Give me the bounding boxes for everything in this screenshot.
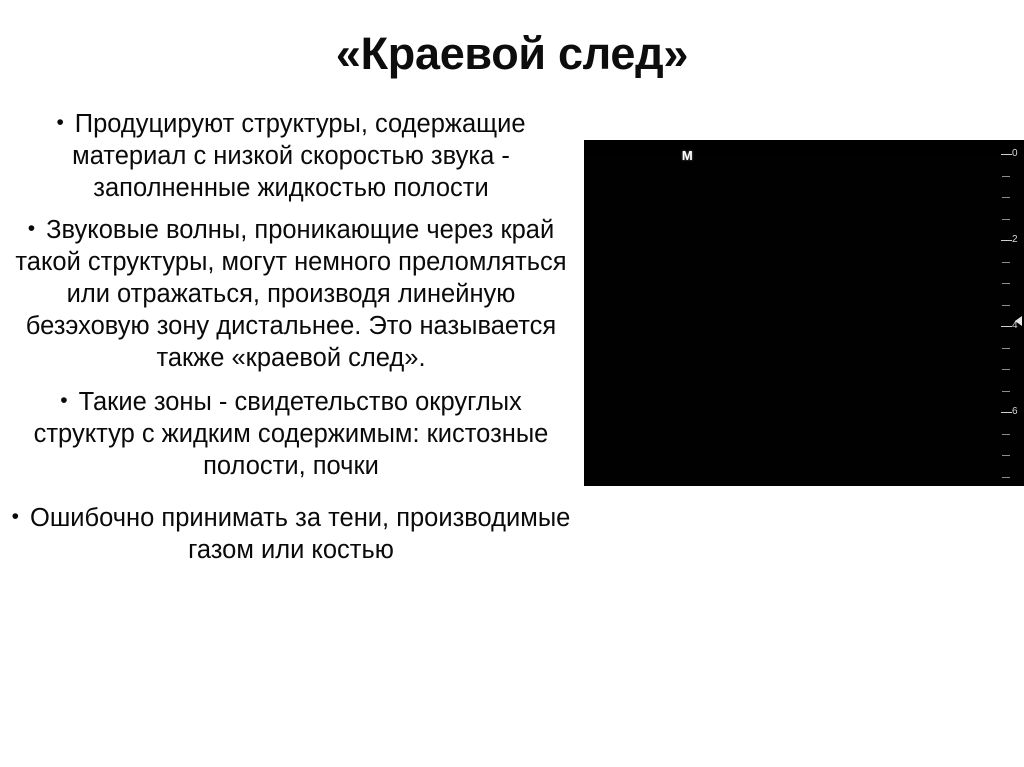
bullet-list: •Продуцируют структуры, содержащие матер… bbox=[8, 108, 574, 566]
ultrasound-scan-canvas bbox=[584, 140, 1024, 486]
depth-tick-minor bbox=[1002, 176, 1010, 177]
depth-tick-minor bbox=[1002, 262, 1010, 263]
depth-tick-minor bbox=[1002, 391, 1010, 392]
page-title: «Краевой след» bbox=[0, 30, 1024, 77]
depth-tick-minor bbox=[1002, 305, 1010, 306]
list-item-text: Звуковые волны, проникающие через край т… bbox=[15, 216, 566, 372]
ultrasound-image: M 0246 bbox=[584, 140, 1024, 486]
list-item: •Ошибочно принимать за тени, производимы… bbox=[8, 502, 574, 566]
depth-tick-minor bbox=[1002, 434, 1010, 435]
depth-tick-minor bbox=[1002, 219, 1010, 220]
list-item-text: Такие зоны - свидетельство округлых стру… bbox=[34, 388, 549, 480]
depth-tick-major bbox=[1001, 154, 1012, 155]
depth-tick-minor bbox=[1002, 455, 1010, 456]
list-item: •Такие зоны - свидетельство округлых стр… bbox=[8, 386, 574, 482]
depth-tick-major bbox=[1001, 326, 1012, 327]
bullet-marker-icon: • bbox=[28, 217, 46, 240]
list-item: •Продуцируют структуры, содержащие матер… bbox=[8, 108, 574, 204]
bullet-marker-icon: • bbox=[12, 505, 30, 528]
depth-tick-minor bbox=[1002, 283, 1010, 284]
depth-tick-minor bbox=[1002, 348, 1010, 349]
probe-orientation-marker: M bbox=[678, 148, 696, 166]
depth-scale-label: 2 bbox=[1012, 235, 1024, 245]
depth-tick-major bbox=[1001, 412, 1012, 413]
depth-tick-major bbox=[1001, 240, 1012, 241]
bullet-marker-icon: • bbox=[60, 389, 78, 412]
depth-scale-label: 6 bbox=[1012, 407, 1024, 417]
depth-tick-minor bbox=[1002, 369, 1010, 370]
depth-scale-label: 0 bbox=[1012, 149, 1024, 159]
list-item-text: Ошибочно принимать за тени, производимые… bbox=[30, 504, 570, 564]
focus-marker-icon bbox=[1015, 316, 1022, 326]
list-item-text: Продуцируют структуры, содержащие матери… bbox=[72, 110, 525, 202]
depth-tick-minor bbox=[1002, 197, 1010, 198]
bullet-marker-icon: • bbox=[56, 111, 74, 134]
depth-scale: 0246 bbox=[988, 140, 1024, 486]
depth-tick-minor bbox=[1002, 477, 1010, 478]
list-item: •Звуковые волны, проникающие через край … bbox=[8, 214, 574, 374]
